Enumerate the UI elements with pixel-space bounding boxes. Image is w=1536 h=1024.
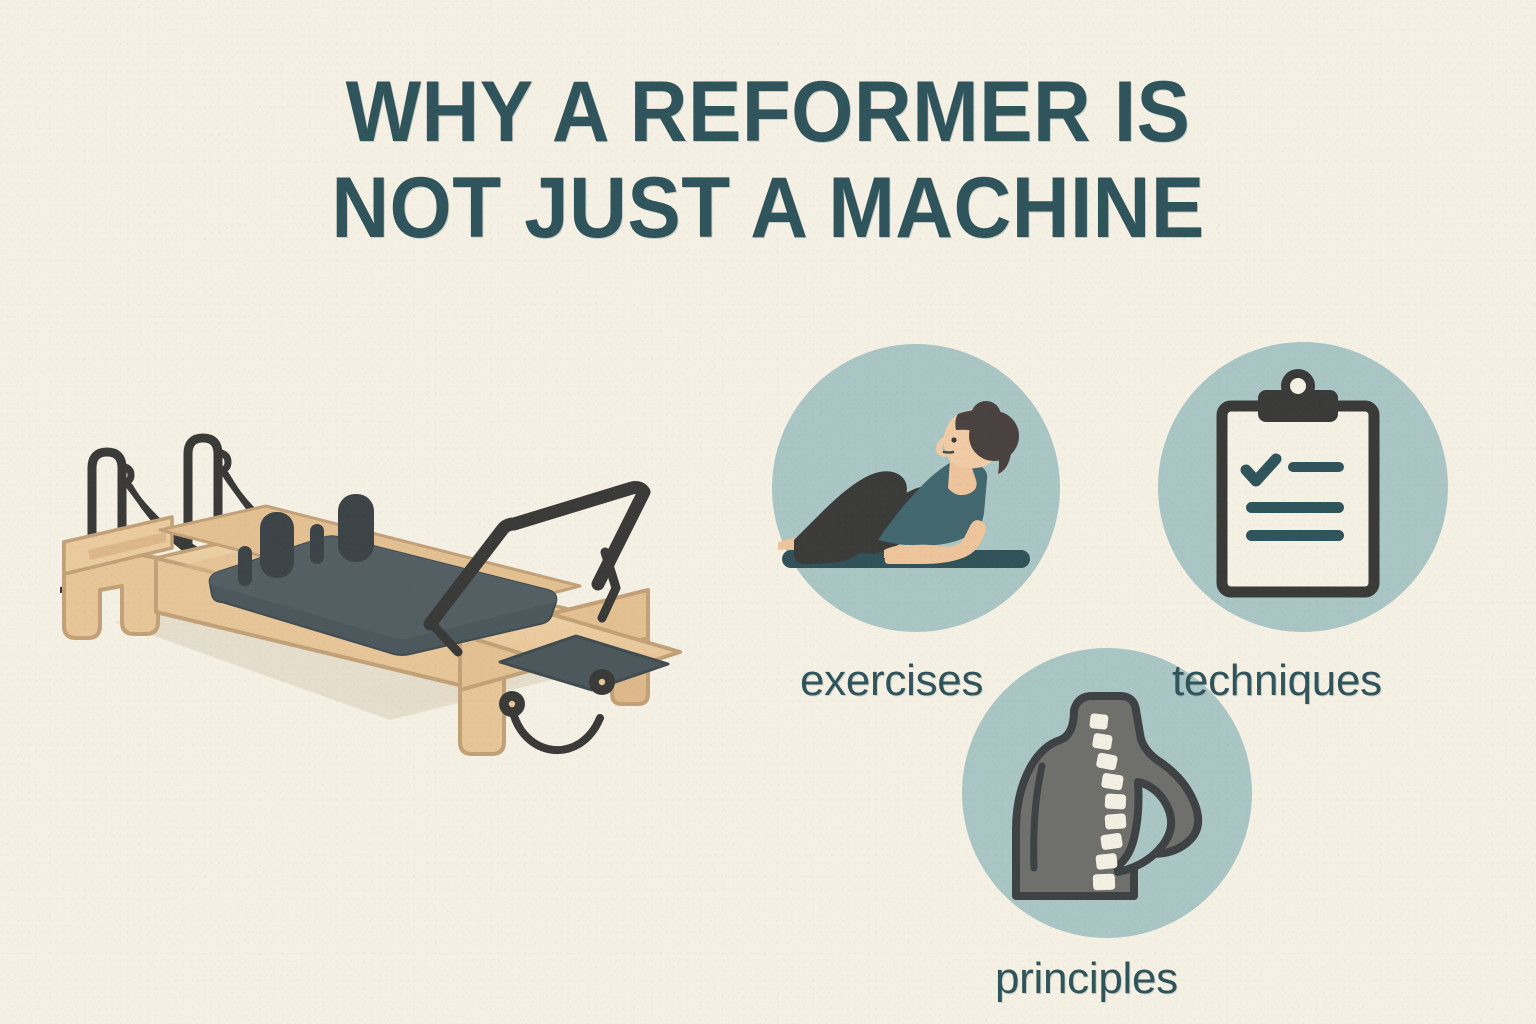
reformer-illustration (60, 390, 720, 810)
icon-circle-exercises[interactable] (772, 344, 1060, 632)
icon-label-exercises: exercises (800, 657, 983, 705)
icon-circle-techniques[interactable] (1158, 342, 1448, 632)
icon-label-principles: principles (995, 955, 1178, 1003)
page-title-line-1: WHY A REFORMER IS (54, 64, 1482, 160)
clipboard-checklist-icon (1158, 342, 1448, 632)
page-title-line-2: NOT JUST A MACHINE (54, 160, 1482, 256)
icon-label-techniques: techniques (1172, 657, 1382, 705)
infographic-canvas: WHY A REFORMER IS NOT JUST A MACHINE (0, 0, 1536, 1024)
woman-pilates-pose-icon (772, 344, 1060, 632)
page-title: WHY A REFORMER IS NOT JUST A MACHINE (0, 64, 1536, 256)
